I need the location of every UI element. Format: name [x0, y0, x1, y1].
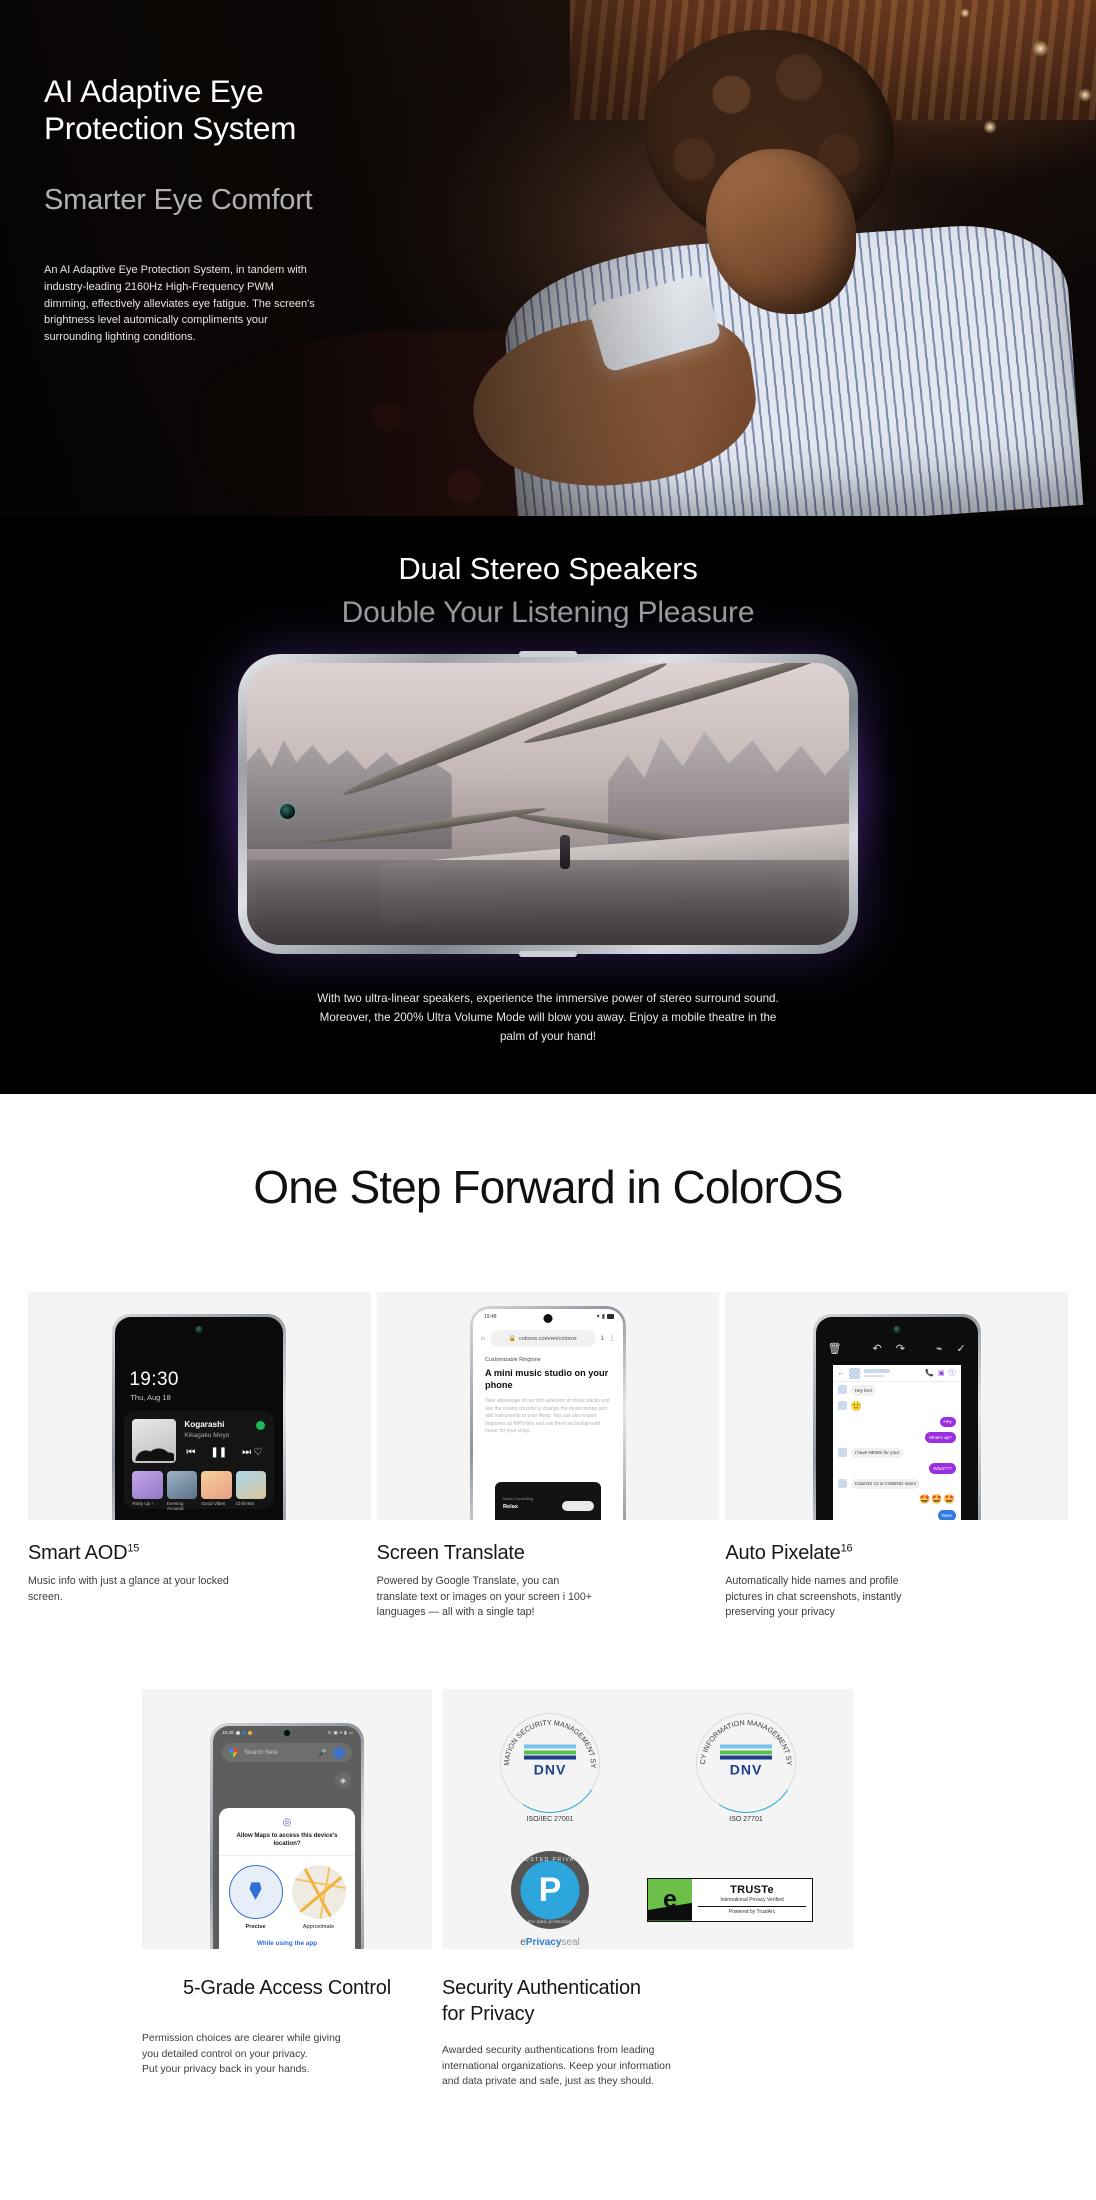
feature-card-security-authentication: INFORMATION SECURITY MANAGEMENT SYSTEM D…	[442, 1689, 854, 2090]
pixelated-avatar	[838, 1479, 847, 1488]
playlist-label: Evening Acoustic	[167, 1501, 198, 1512]
chat-row: What's up?	[838, 1432, 956, 1443]
feature-card-smart-aod: 19:30 Thu, Aug 18 Kogarashi Kikagaku Moy…	[28, 1292, 371, 1621]
dnv-wordmark: DNV	[720, 1762, 772, 1778]
eprivacy-seal-icon: TRUSTED PRIVACY EU data protection	[511, 1851, 589, 1929]
playlist-art	[132, 1471, 163, 1499]
front-camera-icon	[280, 804, 295, 819]
top-speaker-grille-icon	[519, 651, 577, 657]
feature-title-text: Auto Pixelate	[725, 1542, 840, 1564]
overflow-menu-icon[interactable]: ⋮	[609, 1335, 615, 1342]
wifi-icon: ▾	[597, 1313, 600, 1320]
approximate-location-preview	[292, 1865, 346, 1919]
dnv-standard-label: ISO 27701	[672, 1816, 820, 1823]
playlist-art	[167, 1471, 198, 1499]
hero-eye-protection-section: AI Adaptive Eye Protection System Smarte…	[0, 0, 1096, 516]
vibrate-icon: ≋	[328, 1730, 332, 1736]
feature-title: Security Authentication for Privacy	[442, 1975, 854, 2027]
pixelated-avatar	[849, 1368, 860, 1379]
option-label: Precise	[229, 1924, 283, 1930]
speakers-stage	[0, 646, 1096, 976]
seal-top-text: TRUSTED PRIVACY	[511, 1857, 589, 1863]
back-arrow-icon[interactable]: ←	[838, 1370, 845, 1377]
chat-row: Hey	[838, 1417, 956, 1428]
dnv-wordmark: DNV	[524, 1762, 576, 1778]
chat-bubble: Hey	[940, 1417, 956, 1428]
hero-body-text: An AI Adaptive Eye Protection System, in…	[44, 262, 374, 346]
alarm-icon: ▣	[333, 1730, 337, 1736]
redo-icon[interactable]: ↷	[896, 1342, 905, 1355]
dnv-standard-label: ISO/IEC 27001	[476, 1816, 624, 1823]
chat-row: 🤩🤩🤩	[838, 1494, 956, 1505]
ringtone-player-card: Noise Cancelling Relax	[495, 1482, 601, 1520]
browser-screen: 19:48 ▾ ▮ ⌂	[473, 1309, 623, 1520]
chat-bubble: Wow	[938, 1510, 956, 1520]
phone-screen-game-scene	[247, 663, 849, 945]
wordmark-b: Privacy	[526, 1937, 562, 1948]
pixelated-avatar	[838, 1385, 847, 1394]
dnv-bars-icon	[720, 1745, 772, 1760]
pixelated-avatar	[838, 1448, 847, 1457]
avatar[interactable]	[333, 1747, 345, 1759]
info-icon[interactable]: ⓘ	[949, 1368, 956, 1378]
option-precise[interactable]: Precise	[229, 1865, 283, 1930]
landscape-phone-mockup	[238, 654, 858, 954]
screen-translate-thumbnail: 19:48 ▾ ▮ ⌂	[377, 1292, 720, 1520]
speakers-body-text: With two ultra-linear speakers, experien…	[0, 990, 1096, 1046]
status-time: 19:48	[484, 1314, 497, 1320]
wordmark-c: seal	[561, 1937, 579, 1948]
status-icons: ▾ ▮	[597, 1313, 614, 1320]
status-left: 15:48	[222, 1730, 252, 1735]
badge-dnv-iso27001: INFORMATION SECURITY MANAGEMENT SYSTEM D…	[476, 1713, 624, 1823]
truste-subtitle: International Privacy Verified	[720, 1897, 783, 1903]
footnote-marker: 15	[127, 1542, 139, 1554]
phone-mockup-maps-permission: 15:48 ≋ ▣ ▾	[210, 1723, 364, 1949]
playback-controls: ⏮ ❚❚ ⏭	[186, 1447, 251, 1458]
product-page: AI Adaptive Eye Protection System Smarte…	[0, 0, 1096, 2148]
dnv-logo: DNV	[720, 1745, 772, 1778]
video-call-icon[interactable]: ▣	[938, 1369, 945, 1377]
option-approximate[interactable]: Approximate	[292, 1865, 346, 1930]
playlist-label: Good Vibes	[201, 1501, 232, 1506]
hero-subtitle: Smarter Eye Comfort	[44, 184, 524, 217]
playlist-art	[236, 1471, 267, 1499]
certifications-thumbnail: INFORMATION SECURITY MANAGEMENT SYSTEM D…	[442, 1689, 854, 1949]
maps-permission-screen: 15:48 ≋ ▣ ▾	[213, 1726, 361, 1949]
feature-title-text: Smart AOD	[28, 1542, 127, 1564]
playlist-tile[interactable]: Chill Hits	[236, 1471, 267, 1512]
truste-e-icon	[648, 1879, 692, 1921]
hero-title: AI Adaptive Eye Protection System	[44, 73, 524, 146]
punch-hole-camera-icon	[544, 1314, 553, 1323]
feature-description: Music info with just a glance at your lo…	[28, 1574, 371, 1605]
pause-icon[interactable]: ❚❚	[210, 1447, 227, 1458]
badge-truste: TRUSTe International Privacy Verified Po…	[647, 1878, 813, 1922]
playlist-tile[interactable]: Party Up !	[132, 1471, 163, 1512]
browser-content: Customizable Ringtone A mini music studi…	[485, 1357, 611, 1436]
battery-icon: ▭	[349, 1730, 353, 1736]
album-art	[132, 1419, 176, 1463]
chat-header: ← 📞 ▣ ⓘ	[833, 1365, 961, 1382]
aod-date: Thu, Aug 18	[130, 1393, 170, 1402]
wifi-icon: ▾	[340, 1730, 342, 1736]
dnv-logo: DNV	[524, 1745, 576, 1778]
feature-grid-top: 19:30 Thu, Aug 18 Kogarashi Kikagaku Moy…	[0, 1292, 1096, 1621]
search-placeholder: Search here	[244, 1749, 312, 1756]
feature-card-access-control: 15:48 ≋ ▣ ▾	[142, 1689, 432, 2090]
location-pin-icon: ◎	[229, 1817, 345, 1828]
game-character	[560, 835, 570, 869]
chat-bubble: What's up?	[925, 1432, 956, 1443]
browser-toolbar: ⌂ 🔒 coloros.com/en/coloros 1 ⋮	[481, 1330, 615, 1347]
game-water	[247, 860, 849, 945]
dnv-ring: PRIVACY INFORMATION MANAGEMENT SYSTEM DN…	[696, 1713, 796, 1813]
dnv-ring: INFORMATION SECURITY MANAGEMENT SYSTEM D…	[500, 1713, 600, 1813]
playlist-label: Party Up !	[132, 1501, 163, 1506]
smart-aod-thumbnail: 19:30 Thu, Aug 18 Kogarashi Kikagaku Moy…	[28, 1292, 371, 1520]
player-kicker: Noise Cancelling	[503, 1496, 533, 1501]
map-layers-icon[interactable]: ◈	[335, 1772, 351, 1788]
chat-screenshot: ← 📞 ▣ ⓘ	[833, 1365, 961, 1520]
chat-row: What???	[838, 1463, 956, 1474]
content-kicker: Customizable Ringtone	[485, 1357, 611, 1363]
access-control-thumbnail: 15:48 ≋ ▣ ▾	[142, 1689, 432, 1949]
dual-stereo-speakers-section: Dual Stereo Speakers Double Your Listeni…	[0, 516, 1096, 1094]
feature-grid-bottom: 15:48 ≋ ▣ ▾	[0, 1689, 1096, 2090]
feature-description: Automatically hide names and profile pic…	[725, 1574, 1068, 1621]
chat-bubble: What???	[929, 1463, 955, 1474]
generate-button[interactable]	[562, 1501, 594, 1511]
chat-bubble: Hey bro!	[851, 1385, 876, 1396]
permission-dialog: ◎ Allow Maps to access this device's loc…	[219, 1808, 355, 1949]
punch-hole-camera-icon	[283, 1729, 291, 1737]
aod-clock: 19:30	[129, 1369, 179, 1391]
feature-description: Awarded security authentications from le…	[442, 2043, 854, 2090]
chat-bubble: I have NEWS for you!	[851, 1448, 903, 1459]
maps-search-bar[interactable]: Search here 🎤	[222, 1743, 352, 1762]
favorite-heart-icon[interactable]: ♡	[253, 1447, 262, 1458]
feature-description: Permission choices are clearer while giv…	[142, 2031, 432, 2078]
hero-copy-block: AI Adaptive Eye Protection System Smarte…	[44, 73, 524, 346]
aod-music-widget: Kogarashi Kikagaku Moyo ⏮ ❚❚ ⏭ ♡	[124, 1411, 274, 1509]
confirm-check-icon[interactable]: ✓	[956, 1342, 965, 1355]
playlist-tile[interactable]: Good Vibes	[201, 1471, 232, 1512]
seal-bottom-text: EU data protection	[511, 1919, 589, 1924]
pixelated-avatar	[838, 1401, 847, 1410]
player-title: Relax	[503, 1504, 518, 1510]
truste-title: TRUSTe	[730, 1884, 774, 1896]
truste-wrap: TRUSTe International Privacy Verified Po…	[640, 1878, 820, 1922]
chat-messages: Hey bro! 🙂 Hey What's up? I have NEWS fo…	[838, 1385, 956, 1520]
always-on-display-screen: 19:30 Thu, Aug 18 Kogarashi Kikagaku Moy…	[115, 1317, 283, 1520]
permission-options: Precise Approximate	[229, 1865, 345, 1930]
coloros-section: One Step Forward in ColorOS 19:30 Thu, A…	[0, 1094, 1096, 2148]
next-track-icon[interactable]: ⏭	[242, 1447, 251, 1458]
certification-row: TRUSTED PRIVACY EU data protection ePriv…	[476, 1851, 820, 1948]
feature-title: Smart AOD15	[28, 1542, 371, 1565]
tab-count-icon[interactable]: 1	[601, 1336, 604, 1342]
home-icon[interactable]: ⌂	[481, 1336, 485, 1342]
feature-title: Screen Translate	[377, 1542, 720, 1565]
while-using-app-button[interactable]: While using the app	[229, 1940, 345, 1947]
pixelated-contact-name	[864, 1369, 922, 1377]
certification-badges: INFORMATION SECURITY MANAGEMENT SYSTEM D…	[442, 1689, 854, 1949]
status-time: 15:48	[222, 1730, 234, 1735]
chat-bubble: ColorOS 13 is COMING soon!	[851, 1479, 920, 1490]
chat-emoji: 🤩🤩🤩	[919, 1494, 956, 1505]
chat-row: 🙂	[838, 1401, 956, 1412]
phone-mockup-browser: 19:48 ▾ ▮ ⌂	[470, 1306, 626, 1520]
badge-eprivacyseal: TRUSTED PRIVACY EU data protection ePriv…	[476, 1851, 624, 1948]
status-right: ≋ ▣ ▾ ▮ ▭	[328, 1730, 353, 1736]
spotify-icon	[256, 1421, 265, 1430]
chat-row: I have NEWS for you!	[838, 1448, 956, 1459]
certification-row: INFORMATION SECURITY MANAGEMENT SYSTEM D…	[476, 1713, 820, 1823]
share-icon[interactable]: ⌁	[936, 1342, 943, 1355]
status-dot-icon	[248, 1731, 252, 1735]
feature-title: Auto Pixelate16	[725, 1542, 1068, 1565]
auto-pixelate-thumbnail: 🗑 ↶ ↷ ⌁ ✓	[725, 1292, 1068, 1520]
phone-mockup-aod: 19:30 Thu, Aug 18 Kogarashi Kikagaku Moy…	[112, 1314, 286, 1520]
chat-emoji: 🙂	[851, 1401, 862, 1412]
feature-title: 5-Grade Access Control	[142, 1975, 432, 2001]
precise-location-preview	[229, 1865, 283, 1919]
divider	[219, 1855, 355, 1856]
battery-icon	[607, 1314, 614, 1319]
playlist-tile[interactable]: Evening Acoustic	[167, 1471, 198, 1512]
phone-mockup-screenshot-editor: 🗑 ↶ ↷ ⌁ ✓	[813, 1314, 981, 1520]
bottom-speaker-grille-icon	[519, 951, 577, 957]
status-dot-icon	[236, 1731, 240, 1735]
feature-card-screen-translate: 19:48 ▾ ▮ ⌂	[377, 1292, 720, 1621]
signal-icon: ▮	[344, 1730, 347, 1736]
screenshot-editor-screen: 🗑 ↶ ↷ ⌁ ✓	[816, 1317, 978, 1520]
badge-dnv-iso27701: PRIVACY INFORMATION MANAGEMENT SYSTEM DN…	[672, 1713, 820, 1823]
call-icon[interactable]: 📞	[925, 1369, 934, 1377]
front-camera-icon	[893, 1326, 900, 1333]
content-paragraph: Take advantage of our rich selection of …	[485, 1398, 611, 1436]
option-label: Approximate	[292, 1924, 346, 1930]
google-maps-icon	[229, 1747, 238, 1758]
microphone-icon[interactable]: 🎤	[318, 1749, 327, 1757]
signal-icon: ▮	[602, 1313, 605, 1320]
feature-description: Powered by Google Translate, you can tra…	[377, 1574, 720, 1621]
footnote-marker: 16	[841, 1542, 853, 1554]
undo-icon[interactable]: ↶	[873, 1342, 882, 1355]
playlist-art	[201, 1471, 232, 1499]
feature-card-auto-pixelate: 🗑 ↶ ↷ ⌁ ✓	[725, 1292, 1068, 1621]
dnv-bars-icon	[524, 1745, 576, 1760]
truste-powered-by: Powered by TrustArc	[698, 1906, 806, 1915]
eprivacy-wordmark: ePrivacyseal	[476, 1937, 624, 1948]
content-heading: A mini music studio on your phone	[485, 1368, 611, 1391]
status-bar: 15:48 ≋ ▣ ▾	[213, 1726, 361, 1739]
speakers-title: Dual Stereo Speakers	[0, 516, 1096, 587]
chat-row: Hey bro!	[838, 1385, 956, 1396]
previous-track-icon[interactable]: ⏮	[186, 1447, 195, 1458]
song-title: Kogarashi	[184, 1420, 224, 1429]
status-dot-icon	[242, 1731, 246, 1735]
chat-row: ColorOS 13 is COMING soon!	[838, 1479, 956, 1490]
lock-icon: 🔒	[509, 1335, 516, 1342]
playlist-label: Chill Hits	[236, 1501, 267, 1506]
status-bar: 19:48 ▾ ▮	[473, 1309, 623, 1326]
chat-row: Wow	[838, 1510, 956, 1520]
speakers-subtitle: Double Your Listening Pleasure	[0, 596, 1096, 630]
delete-icon[interactable]: 🗑	[828, 1342, 842, 1355]
song-artist: Kikagaku Moyo	[184, 1432, 229, 1439]
playlist-tiles: Party Up ! Evening Acoustic	[132, 1471, 266, 1512]
feature-title-text: Screen Translate	[377, 1542, 525, 1564]
coloros-title: One Step Forward in ColorOS	[0, 1160, 1096, 1214]
editor-toolbar: 🗑 ↶ ↷ ⌁ ✓	[816, 1339, 978, 1357]
url-text: coloros.com/en/coloros	[519, 1336, 577, 1342]
front-camera-icon	[196, 1326, 203, 1333]
address-bar[interactable]: 🔒 coloros.com/en/coloros	[490, 1330, 596, 1347]
truste-text: TRUSTe International Privacy Verified Po…	[692, 1879, 812, 1921]
permission-question: Allow Maps to access this device's locat…	[229, 1832, 345, 1848]
